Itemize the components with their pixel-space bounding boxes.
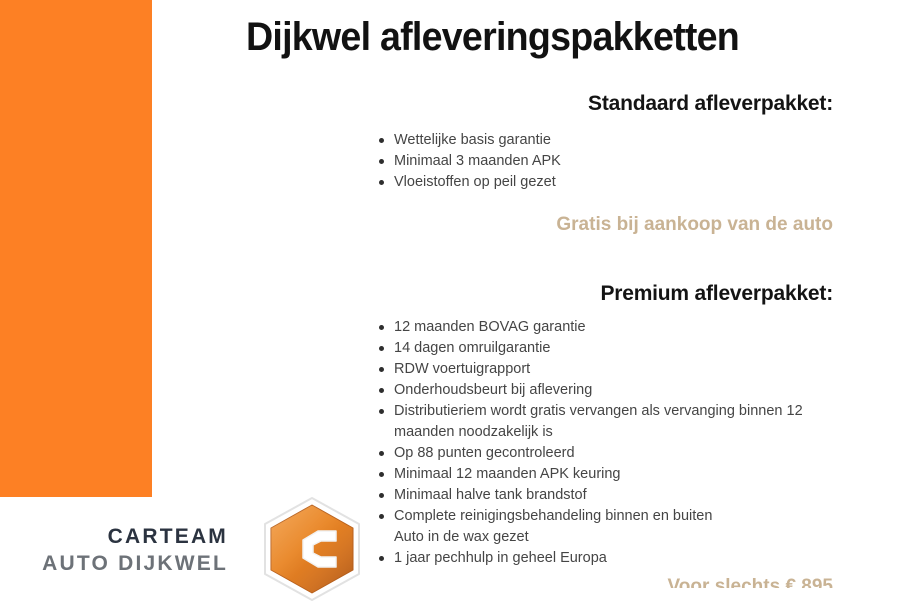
list-item: Wettelijke basis garantie xyxy=(376,130,833,151)
list-item-subline: Auto in de wax gezet xyxy=(394,527,833,548)
list-item: Distributieriem wordt gratis vervangen a… xyxy=(376,401,833,443)
brand-name-auto-dijkwel: AUTO DIJKWEL xyxy=(0,550,228,577)
list-item: RDW voertuigrapport xyxy=(376,359,833,380)
bullet-icon xyxy=(379,138,384,143)
brand-wordmark: CARTEAM AUTO DIJKWEL xyxy=(0,523,228,577)
packages-content: Standaard afleverpakket: Wettelijke basi… xyxy=(376,0,833,588)
list-item-label: 14 dagen omruilgarantie xyxy=(394,338,833,359)
list-item-label: Minimaal 12 maanden APK keuring xyxy=(394,464,833,485)
premium-package-heading: Premium afleverpakket: xyxy=(376,281,833,307)
bullet-icon xyxy=(379,388,384,393)
list-item: Minimaal 12 maanden APK keuring xyxy=(376,464,833,485)
list-item-label: 12 maanden BOVAG garantie xyxy=(394,317,833,338)
list-item-label: 1 jaar pechhulp in geheel Europa xyxy=(394,548,833,569)
list-item-label: Vloeistoffen op peil gezet xyxy=(394,172,833,193)
standaard-feature-list: Wettelijke basis garantie Minimaal 3 maa… xyxy=(376,130,833,193)
list-item-label: Wettelijke basis garantie xyxy=(394,130,833,151)
list-item-label: Minimaal halve tank brandstof xyxy=(394,485,833,506)
bullet-icon xyxy=(379,346,384,351)
bullet-icon xyxy=(379,159,384,164)
bullet-icon xyxy=(379,325,384,330)
list-item: Onderhoudsbeurt bij aflevering xyxy=(376,380,833,401)
standaard-package-heading: Standaard afleverpakket: xyxy=(376,91,833,117)
premium-price-text: Voor slechts € 895 xyxy=(376,575,833,588)
list-item: 1 jaar pechhulp in geheel Europa xyxy=(376,548,833,569)
list-item-label: Minimaal 3 maanden APK xyxy=(394,151,833,172)
list-item: 14 dagen omruilgarantie xyxy=(376,338,833,359)
list-item: Minimaal halve tank brandstof xyxy=(376,485,833,506)
list-item-label: Distributieriem wordt gratis vervangen a… xyxy=(394,401,833,443)
list-item: 12 maanden BOVAG garantie xyxy=(376,317,833,338)
list-item: Minimaal 3 maanden APK xyxy=(376,151,833,172)
standaard-promo-text: Gratis bij aankoop van de auto xyxy=(376,213,833,237)
brand-lockup: CARTEAM AUTO DIJKWEL xyxy=(0,505,370,600)
bullet-icon xyxy=(379,472,384,477)
bullet-icon xyxy=(379,367,384,372)
carteam-hexagon-logo-icon xyxy=(255,495,369,603)
bullet-icon xyxy=(379,451,384,456)
list-item-label: RDW voertuigrapport xyxy=(394,359,833,380)
list-item-label: Op 88 punten gecontroleerd xyxy=(394,443,833,464)
list-item-label: Onderhoudsbeurt bij aflevering xyxy=(394,380,833,401)
bullet-icon xyxy=(379,409,384,414)
bullet-icon xyxy=(379,180,384,185)
premium-feature-list: 12 maanden BOVAG garantie 14 dagen omrui… xyxy=(376,317,833,569)
brand-name-carteam: CARTEAM xyxy=(0,523,228,550)
list-item: Op 88 punten gecontroleerd xyxy=(376,443,833,464)
list-item: Complete reinigingsbehandeling binnen en… xyxy=(376,506,833,548)
list-item-label: Complete reinigingsbehandeling binnen en… xyxy=(394,506,833,527)
bullet-icon xyxy=(379,514,384,519)
orange-accent-block xyxy=(0,0,152,497)
bullet-icon xyxy=(379,493,384,498)
list-item: Vloeistoffen op peil gezet xyxy=(376,172,833,193)
bullet-icon xyxy=(379,556,384,561)
